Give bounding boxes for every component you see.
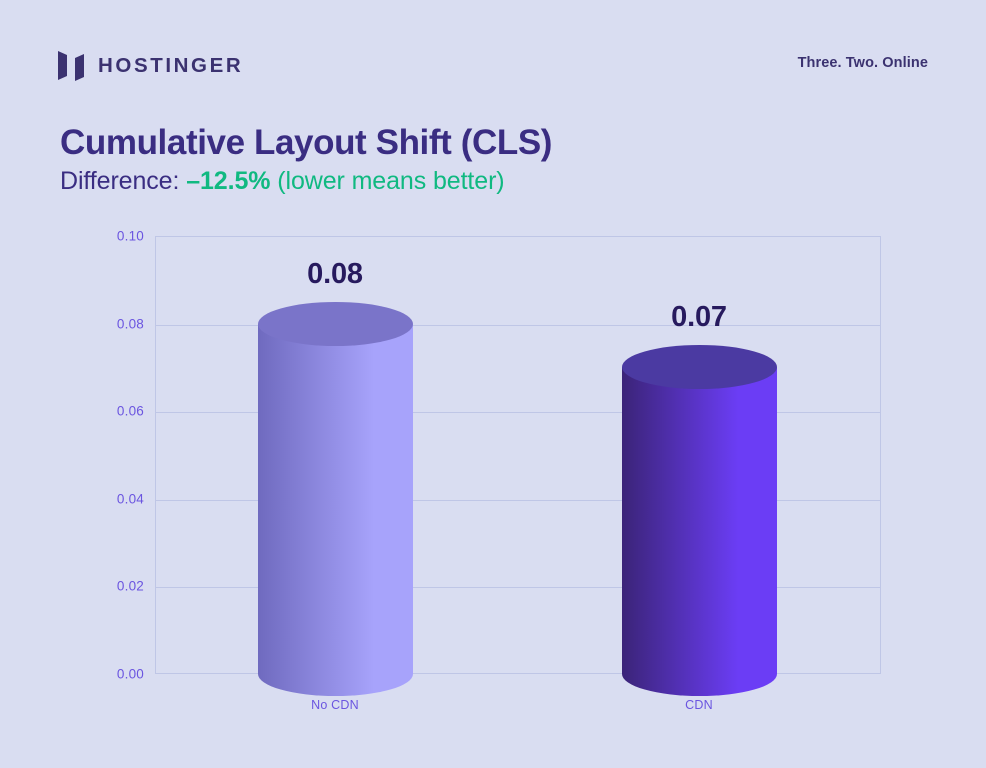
- bar-body: [622, 367, 777, 674]
- bar-top-cap: [622, 345, 777, 389]
- bar-value-label: 0.07: [589, 301, 809, 334]
- y-axis-tick-label: 0.04: [84, 491, 144, 506]
- y-axis-tick-label: 0.06: [84, 404, 144, 419]
- x-axis-tick-label: No CDN: [311, 698, 359, 712]
- bar-value-label: 0.08: [225, 258, 445, 291]
- chart-plot: 0.000.020.040.060.080.10 No CDNCDN 0.080…: [0, 0, 986, 768]
- y-axis-tick-label: 0.10: [84, 229, 144, 244]
- infographic-root: HOSTINGER Three. Two. Online Cumulative …: [0, 0, 986, 768]
- y-axis-tick-label: 0.00: [84, 667, 144, 682]
- bar-cylinder: [258, 302, 413, 696]
- y-axis-tick-label: 0.02: [84, 579, 144, 594]
- bar-top-cap: [258, 302, 413, 346]
- y-axis-tick-label: 0.08: [84, 316, 144, 331]
- bar-cylinder: [622, 345, 777, 696]
- x-axis-tick-label: CDN: [685, 698, 713, 712]
- bar-body: [258, 324, 413, 674]
